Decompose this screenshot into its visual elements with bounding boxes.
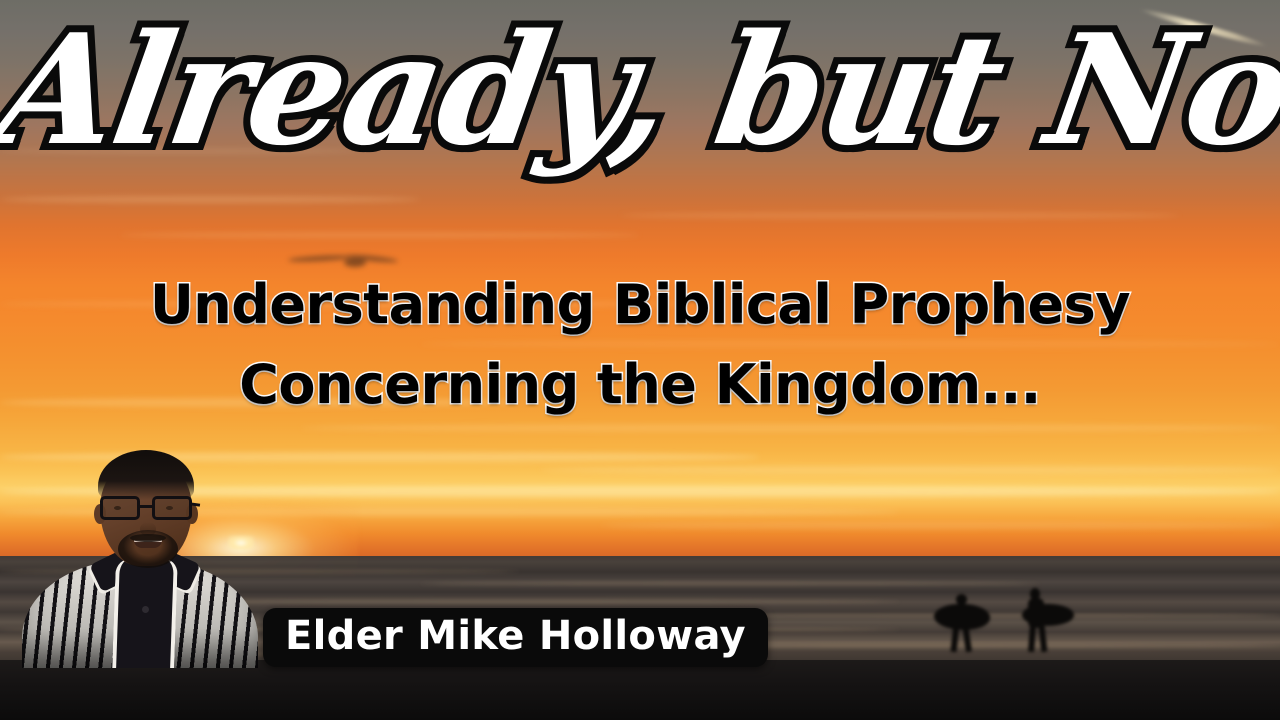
subtitle-line-2-text: Concerning the Kingdom... [239,353,1040,416]
bird-silhouette [288,250,400,272]
portrait-jacket-button [142,606,149,613]
video-thumbnail: Already, but Not Yet... Understanding Bi… [0,0,1280,720]
speaker-name-plate: Elder Mike Holloway [263,608,768,667]
speaker-portrait [18,430,268,668]
subtitle-line-2: Concerning the Kingdom... [0,358,1280,412]
beach-sand [0,660,1280,720]
subtitle-line-1: Understanding Biblical Prophesy [0,278,1280,332]
eyeglasses-icon [98,496,196,522]
surfer-silhouettes [930,588,1100,668]
portrait-mustache [130,534,166,542]
subtitle-line-1-text: Understanding Biblical Prophesy [150,273,1130,336]
portrait-hair [98,450,194,500]
speaker-name-label: Elder Mike Holloway [285,616,746,657]
portrait-collar-placket [112,558,178,668]
page-title: Already, but Not Yet... [0,14,1280,166]
